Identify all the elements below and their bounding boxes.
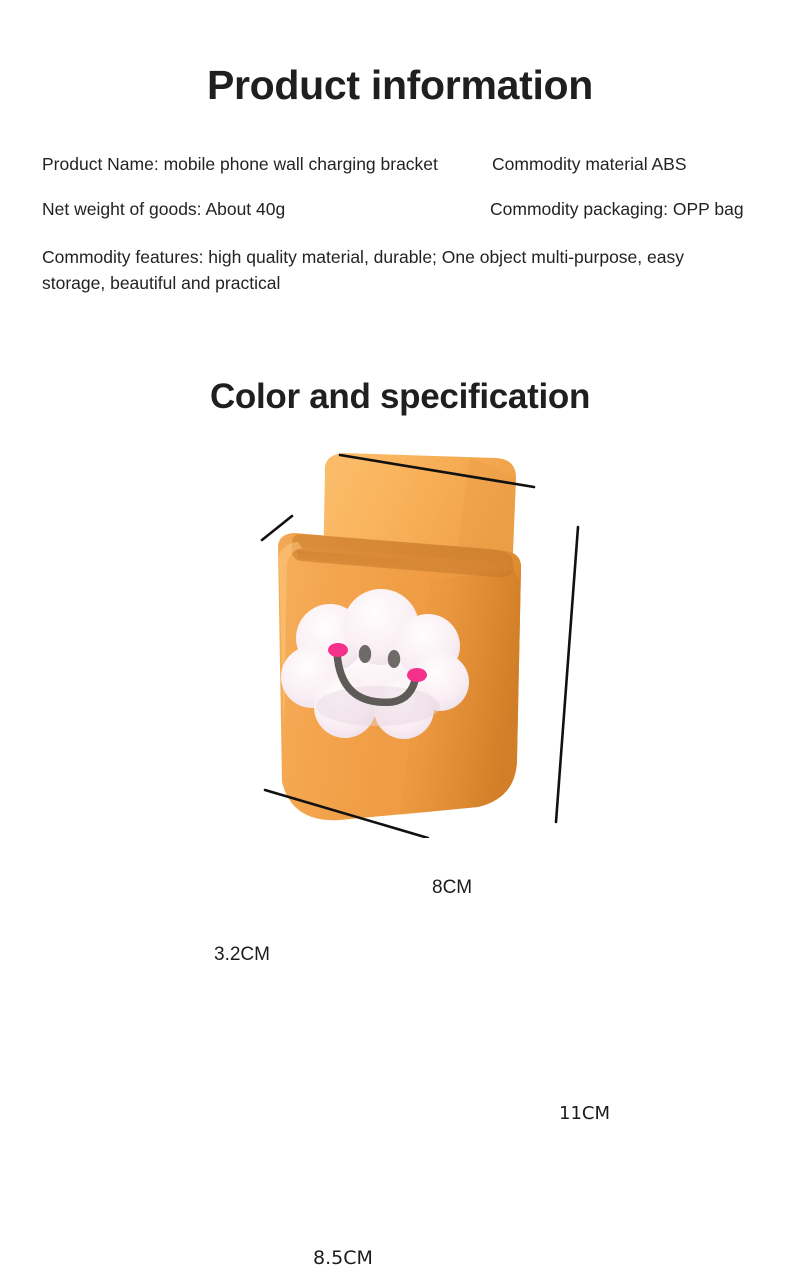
decal-blush-right xyxy=(407,668,427,682)
spec-row: Net weight of goods: About 40g Commodity… xyxy=(0,197,800,221)
page-title-product-information: Product information xyxy=(0,60,800,110)
spec-commodity-features: Commodity features: high quality materia… xyxy=(42,244,742,296)
product-illustration: 8CM 3.2CM 11CM 8.5CM xyxy=(0,430,800,838)
dimension-label-depth: 3.2CM xyxy=(214,944,270,966)
product-detail-page: Product information Product Name: mobile… xyxy=(0,0,800,838)
spec-commodity-material: Commodity material ABS xyxy=(492,152,687,176)
decal-eye-right xyxy=(388,650,400,668)
dimension-label-height: 11CM xyxy=(559,1103,610,1125)
spec-row: Product Name: mobile phone wall charging… xyxy=(0,152,800,176)
spec-net-weight: Net weight of goods: About 40g xyxy=(42,197,285,221)
dimension-label-bottom-width: 8.5CM xyxy=(313,1247,373,1269)
dimension-label-top-width: 8CM xyxy=(432,877,472,899)
spec-product-name: Product Name: mobile phone wall charging… xyxy=(42,152,438,176)
dimension-line-right xyxy=(556,527,578,822)
product-spec-block: Product Name: mobile phone wall charging… xyxy=(0,152,800,302)
decal-blush-left xyxy=(328,643,348,657)
decal-eye-left xyxy=(359,645,371,663)
page-title-color-and-specification: Color and specification xyxy=(0,375,800,419)
spec-commodity-packaging: Commodity packaging: OPP bag xyxy=(490,197,744,221)
